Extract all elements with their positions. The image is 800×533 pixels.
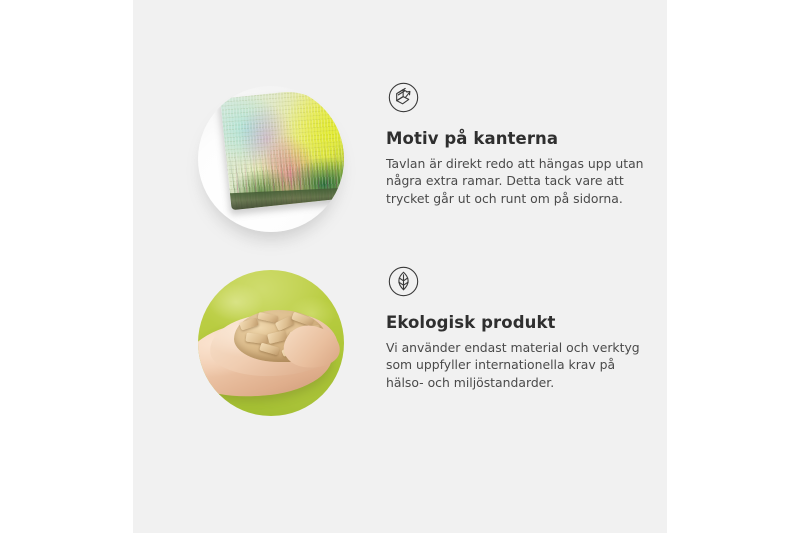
feature-body-2: Vi använder endast material och verktyg … — [386, 339, 654, 392]
feature-body-1: Tavlan är direkt redo att hängas upp uta… — [386, 155, 654, 208]
canvas-edge-arrow-icon — [386, 80, 421, 115]
feature-text-block-2: Ekologisk produkt Vi använder endast mat… — [386, 264, 666, 392]
wood-chip — [259, 343, 279, 356]
hands-holding-wood-chips-photo — [198, 270, 344, 416]
feature-text-block-1: Motiv på kanterna Tavlan är direkt redo … — [386, 80, 666, 208]
wood-chip — [257, 312, 278, 323]
feature-row-ekologisk-produkt: Ekologisk produkt Vi använder endast mat… — [133, 264, 667, 439]
infographic-stage: Motiv på kanterna Tavlan är direkt redo … — [0, 0, 800, 533]
feature-title-2: Ekologisk produkt — [386, 313, 666, 333]
content-panel: Motiv på kanterna Tavlan är direkt redo … — [133, 0, 667, 533]
canvas-slab — [220, 86, 344, 210]
canvas-print-corner-photo — [198, 86, 344, 232]
feature-title-1: Motiv på kanterna — [386, 129, 666, 149]
canvas-photo-backdrop — [198, 86, 344, 232]
leaf-icon — [386, 264, 421, 299]
eco-photo-scene — [198, 270, 344, 416]
feature-row-motiv-pa-kanterna: Motiv på kanterna Tavlan är direkt redo … — [133, 80, 667, 255]
